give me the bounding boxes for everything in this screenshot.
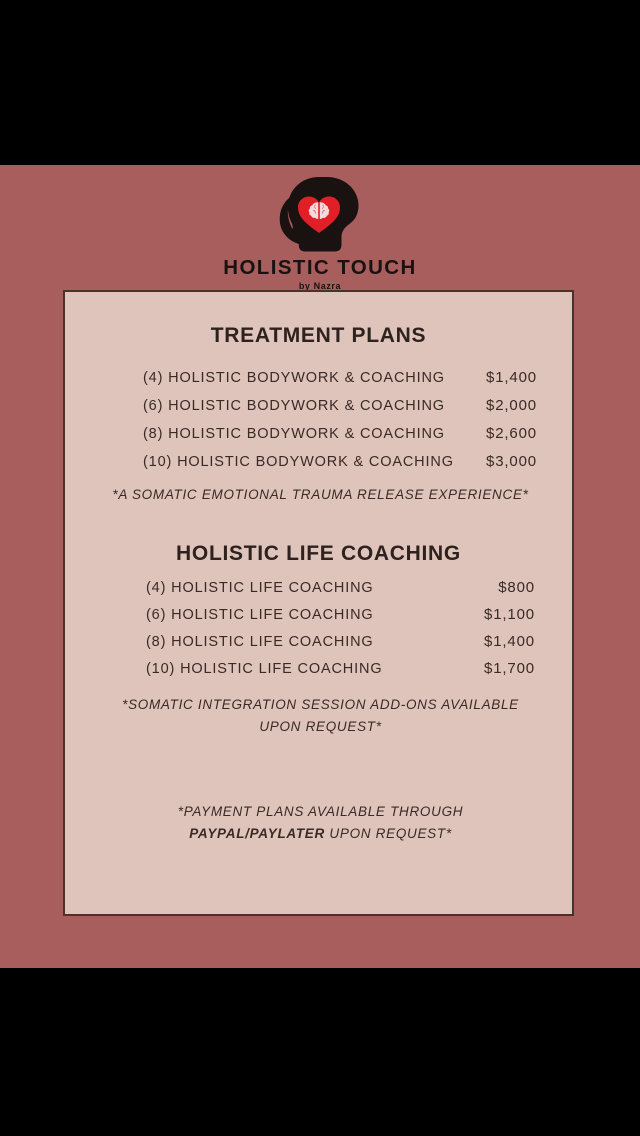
- price-row: (6) HOLISTIC LIFE COACHING $1,100: [146, 607, 535, 623]
- letterbox-bar-top: [0, 0, 640, 165]
- poster-canvas: HOLISTIC TOUCH by Nazra TREATMENT PLANS …: [0, 165, 640, 968]
- brand-wordmark: HOLISTIC TOUCH: [0, 257, 640, 280]
- note-payment-line2: PAYPAL/PAYLATER UPON REQUEST*: [87, 823, 554, 845]
- note-add-ons-line1: *SOMATIC INTEGRATION SESSION ADD-ONS AVA…: [87, 694, 554, 716]
- price-row-amount: $1,700: [484, 661, 535, 676]
- price-row: (8) HOLISTIC LIFE COACHING $1,400: [146, 634, 535, 650]
- price-row-label: (6) HOLISTIC LIFE COACHING: [146, 608, 374, 623]
- note-payment-line2-rest: UPON REQUEST*: [325, 826, 452, 841]
- price-row: (6) HOLISTIC BODYWORK & COACHING $2,000: [143, 398, 537, 414]
- price-row-label: (8) HOLISTIC BODYWORK & COACHING: [143, 427, 445, 442]
- price-list-treatment-plans: (4) HOLISTIC BODYWORK & COACHING $1,400 …: [143, 370, 537, 482]
- brand-logo-block: HOLISTIC TOUCH by Nazra: [0, 175, 640, 291]
- price-row-label: (4) HOLISTIC LIFE COACHING: [146, 581, 374, 596]
- price-row: (8) HOLISTIC BODYWORK & COACHING $2,600: [143, 426, 537, 442]
- note-treatment-plans: *A SOMATIC EMOTIONAL TRAUMA RELEASE EXPE…: [75, 484, 566, 506]
- price-row-label: (4) HOLISTIC BODYWORK & COACHING: [143, 371, 445, 386]
- price-list-holistic-life-coaching: (4) HOLISTIC LIFE COACHING $800 (6) HOLI…: [146, 580, 535, 688]
- price-row-label: (8) HOLISTIC LIFE COACHING: [146, 635, 374, 650]
- payment-provider: PAYPAL/PAYLATER: [189, 826, 325, 841]
- note-add-ons: *SOMATIC INTEGRATION SESSION ADD-ONS AVA…: [87, 694, 554, 739]
- note-add-ons-line2: UPON REQUEST*: [87, 716, 554, 738]
- price-row-amount: $1,400: [486, 370, 537, 385]
- section-title-holistic-life-coaching: HOLISTIC LIFE COACHING: [65, 542, 572, 566]
- price-row-amount: $800: [498, 580, 535, 595]
- price-row: (10) HOLISTIC BODYWORK & COACHING $3,000: [143, 454, 537, 470]
- price-row-amount: $1,400: [484, 634, 535, 649]
- note-payment: *PAYMENT PLANS AVAILABLE THROUGH PAYPAL/…: [87, 801, 554, 846]
- price-row: (4) HOLISTIC LIFE COACHING $800: [146, 580, 535, 596]
- note-payment-line1: *PAYMENT PLANS AVAILABLE THROUGH: [87, 801, 554, 823]
- section-title-treatment-plans: TREATMENT PLANS: [65, 324, 572, 348]
- price-row-amount: $1,100: [484, 607, 535, 622]
- head-heart-brain-icon: [272, 175, 368, 253]
- price-row-label: (6) HOLISTIC BODYWORK & COACHING: [143, 399, 445, 414]
- poster-screen: HOLISTIC TOUCH by Nazra TREATMENT PLANS …: [0, 0, 640, 1136]
- price-row: (10) HOLISTIC LIFE COACHING $1,700: [146, 661, 535, 677]
- price-row-amount: $3,000: [486, 454, 537, 469]
- price-row-label: (10) HOLISTIC BODYWORK & COACHING: [143, 455, 454, 470]
- pricing-card: TREATMENT PLANS (4) HOLISTIC BODYWORK & …: [63, 290, 574, 916]
- price-row: (4) HOLISTIC BODYWORK & COACHING $1,400: [143, 370, 537, 386]
- price-row-amount: $2,600: [486, 426, 537, 441]
- price-row-label: (10) HOLISTIC LIFE COACHING: [146, 662, 382, 677]
- letterbox-bar-bottom: [0, 968, 640, 1136]
- price-row-amount: $2,000: [486, 398, 537, 413]
